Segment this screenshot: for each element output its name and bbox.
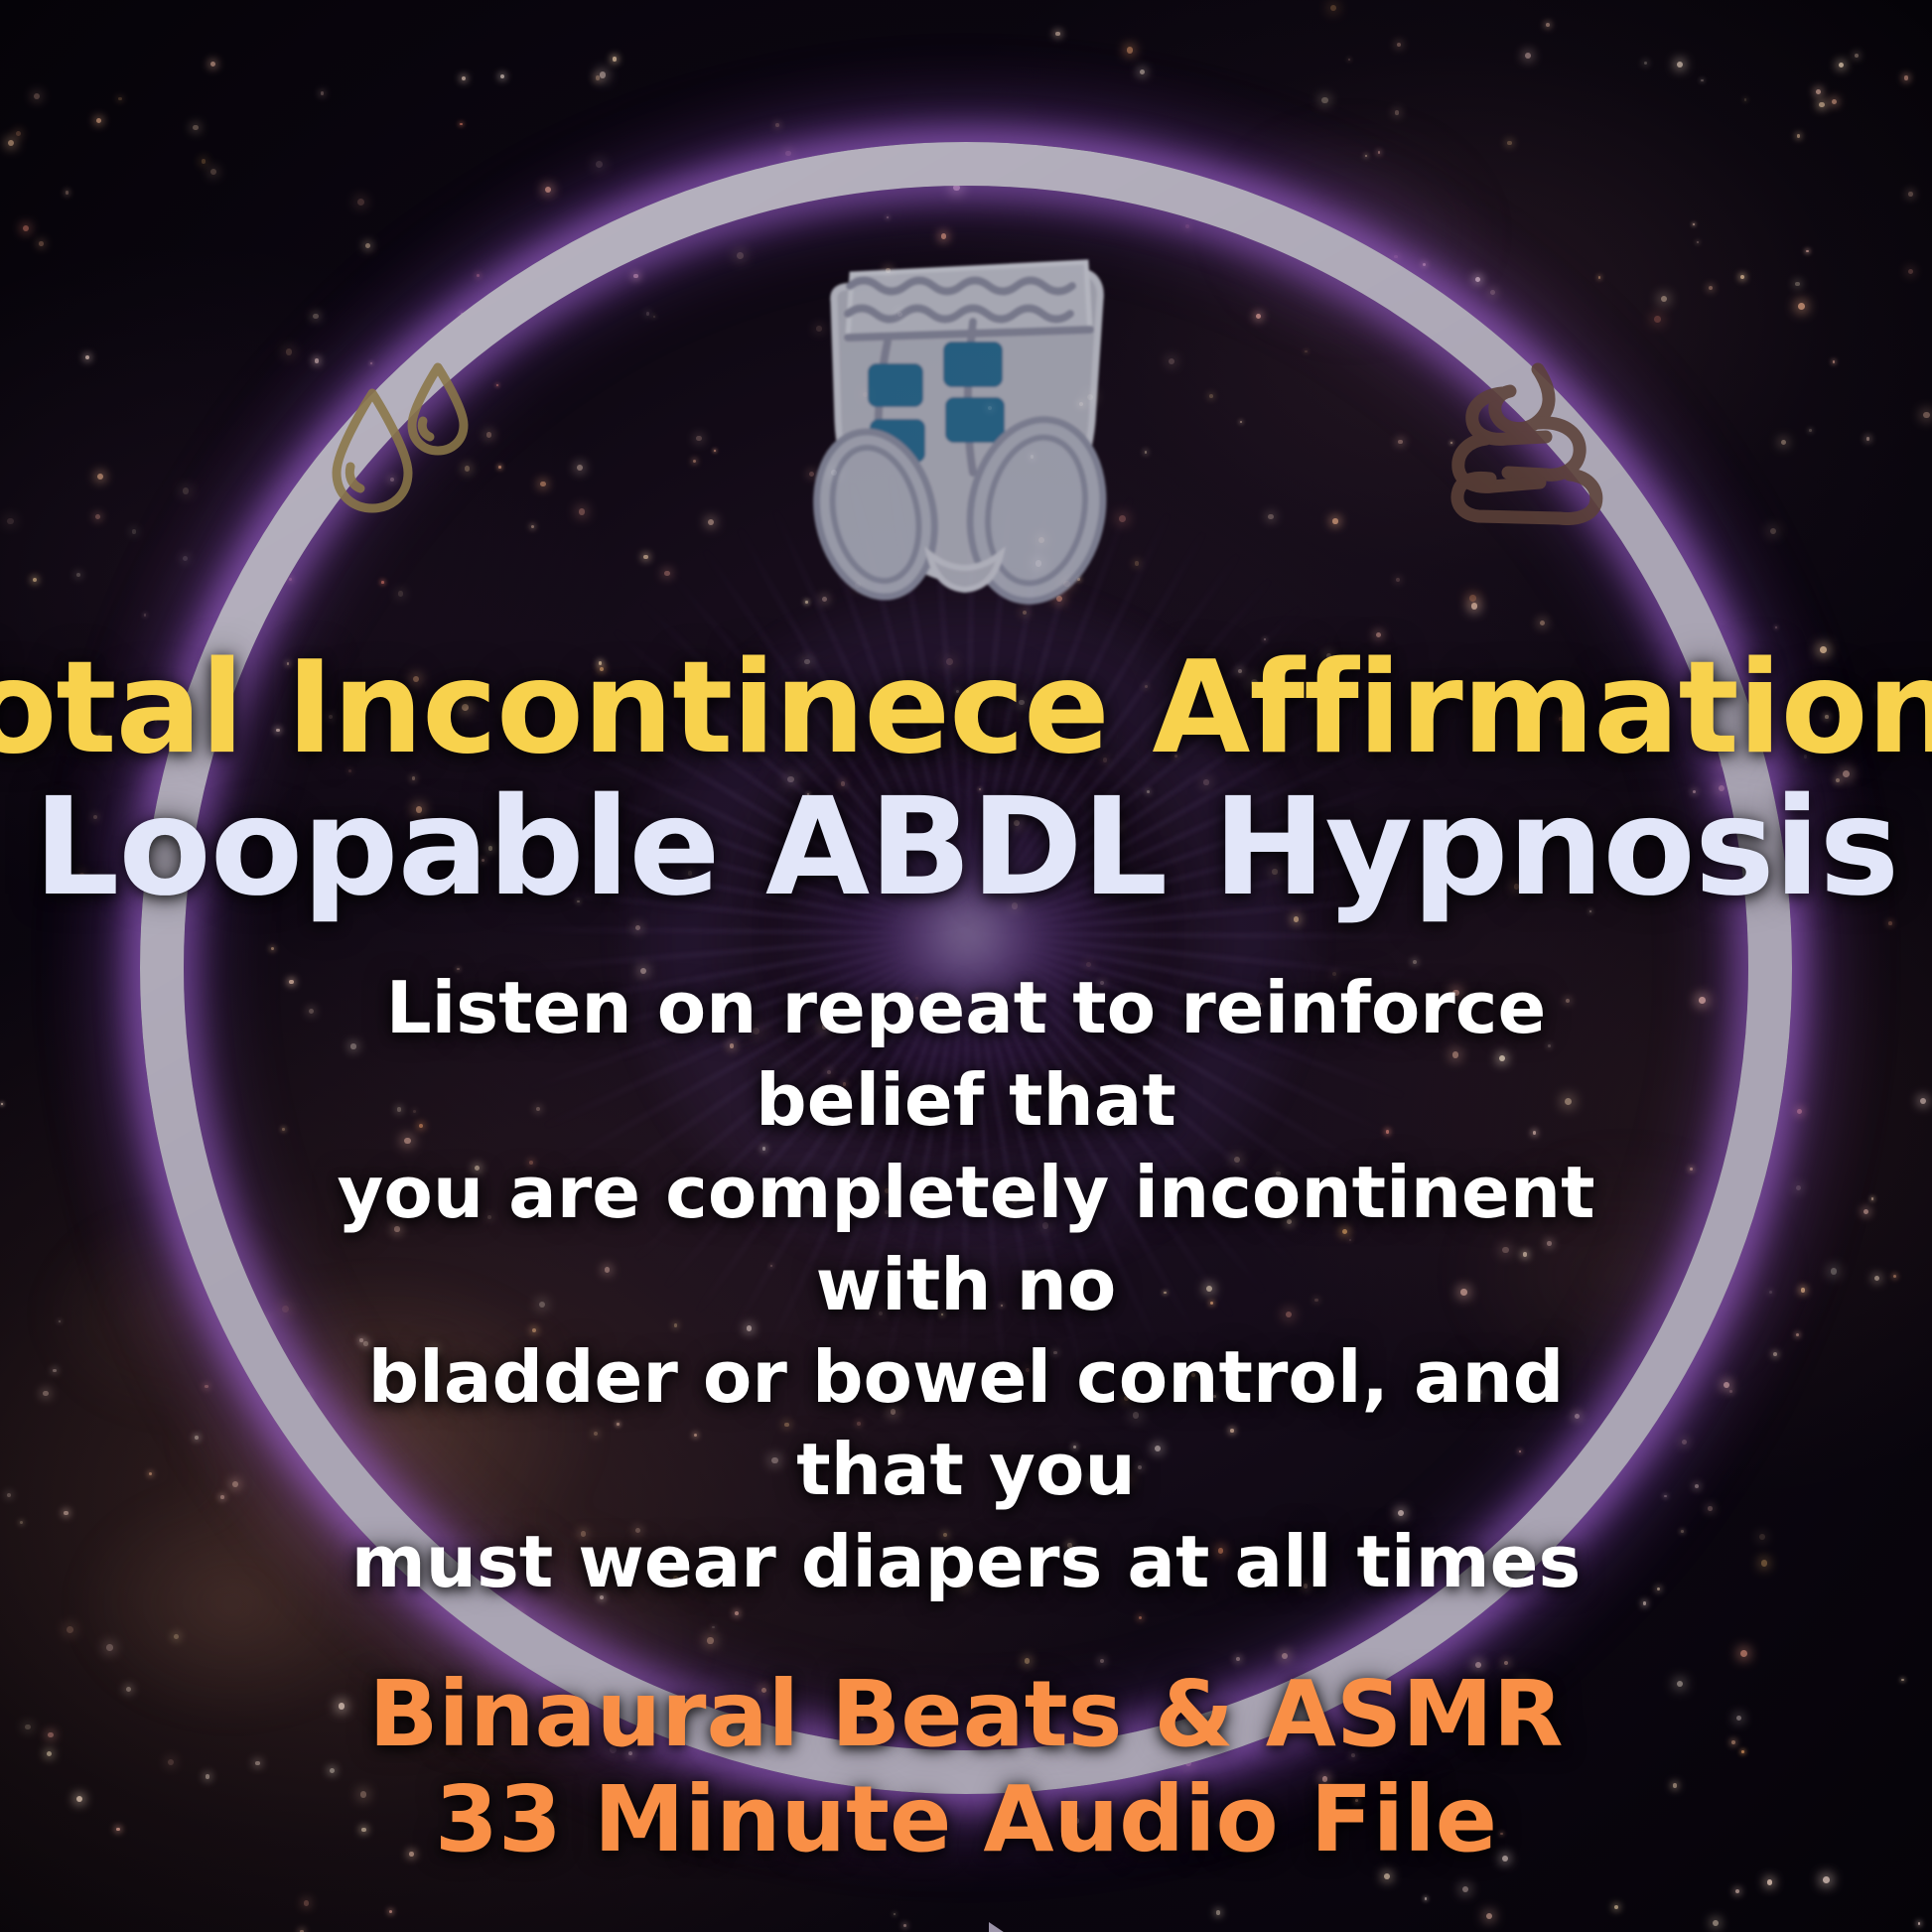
icon-row bbox=[321, 234, 1611, 631]
cta-line-duration: 33 Minute Audio File bbox=[368, 1767, 1563, 1873]
poop-icon bbox=[1443, 349, 1611, 532]
repeat-loop-icon bbox=[892, 1921, 1040, 1932]
poster-content: Total Incontinece Affirmations Loopable … bbox=[0, 0, 1932, 1932]
cta-line-format: Binaural Beats & ASMR bbox=[368, 1662, 1563, 1768]
description-line-1: Listen on repeat to reinforce belief tha… bbox=[306, 962, 1626, 1147]
poster-canvas: Total Incontinece Affirmations Loopable … bbox=[0, 0, 1932, 1932]
description-line-4: must wear diapers at all times bbox=[306, 1516, 1626, 1608]
description-line-2: you are completely incontinent with no bbox=[306, 1147, 1626, 1331]
page-title-secondary: Loopable ABDL Hypnosis bbox=[34, 778, 1899, 918]
page-title-primary: Total Incontinece Affirmations bbox=[0, 645, 1932, 772]
cta-text: Binaural Beats & ASMR 33 Minute Audio Fi… bbox=[368, 1662, 1563, 1873]
description-text: Listen on repeat to reinforce belief tha… bbox=[306, 962, 1626, 1607]
diaper-icon bbox=[753, 226, 1179, 627]
droplets-icon bbox=[321, 349, 489, 532]
description-line-3: bladder or bowel control, and that you bbox=[306, 1331, 1626, 1516]
